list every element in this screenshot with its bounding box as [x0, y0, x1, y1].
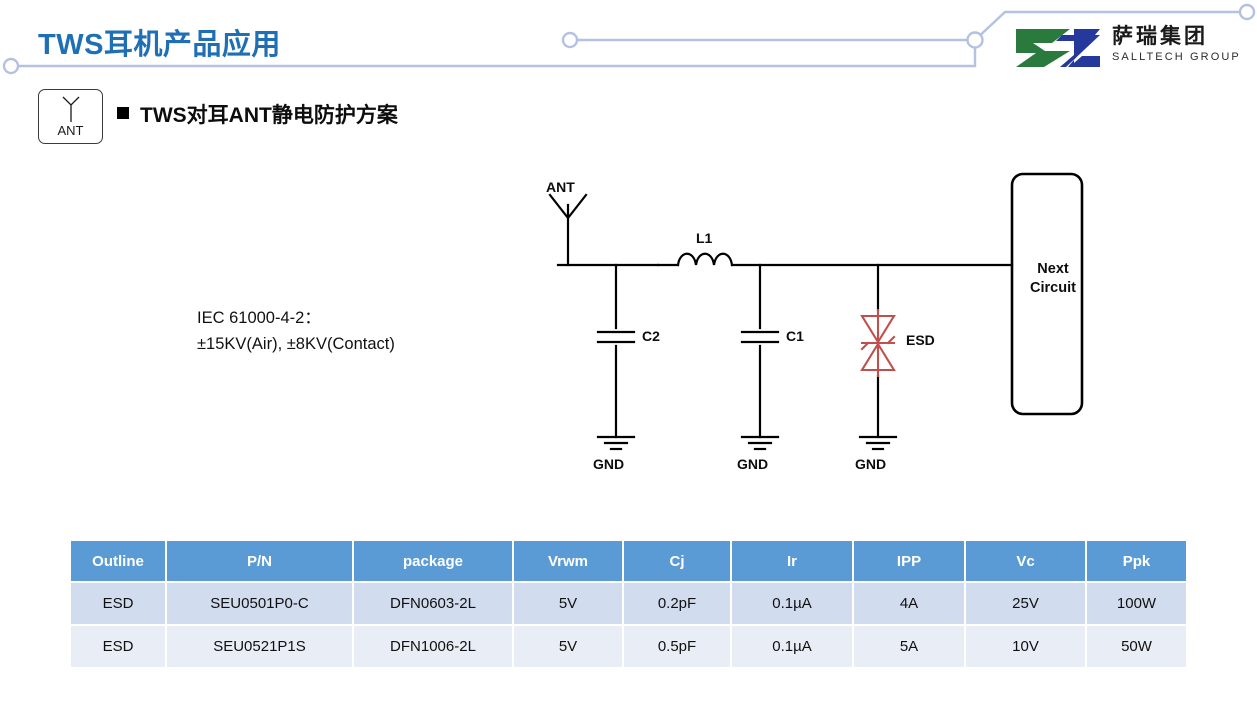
next-circuit-line1: Next	[1008, 260, 1098, 279]
cell-vrwm: 5V	[514, 583, 624, 626]
cell-ppk: 100W	[1087, 583, 1186, 626]
ant-badge: ANT	[38, 89, 103, 144]
cell-package: DFN1006-2L	[354, 626, 514, 669]
antenna-symbol	[550, 195, 586, 265]
deco-node-mid	[563, 33, 577, 47]
slide-root: TWS耳机产品应用 萨瑞集团 SALLTECH GROUP ANT TWS对耳A…	[0, 0, 1257, 704]
column-header-vrwm: Vrwm	[514, 541, 624, 583]
table-header-row: Outline P/N package Vrwm Cj Ir IPP Vc Pp…	[71, 541, 1186, 583]
cell-pn: SEU0521P1S	[167, 626, 354, 669]
iec-note-line2: ±15KV(Air), ±8KV(Contact)	[197, 331, 395, 357]
cell-vc: 25V	[966, 583, 1087, 626]
cell-cj: 0.5pF	[624, 626, 732, 669]
section-heading: TWS对耳ANT静电防护方案	[140, 99, 398, 129]
cell-ipp: 5A	[854, 626, 966, 669]
cell-vrwm: 5V	[514, 626, 624, 669]
column-header-outline: Outline	[71, 541, 167, 583]
iec-standard-note: IEC 61000-4-2： ±15KV(Air), ±8KV(Contact)	[197, 305, 395, 357]
logo-mark-icon	[1012, 26, 1104, 68]
column-header-cj: Cj	[624, 541, 732, 583]
logo-name-cn: 萨瑞集团	[1112, 24, 1244, 50]
company-logo: 萨瑞集团 SALLTECH GROUP	[1012, 24, 1244, 72]
ground-label-3: GND	[855, 456, 886, 472]
deco-node-right	[1240, 5, 1254, 19]
column-header-pn: P/N	[167, 541, 354, 583]
ground-symbol-3	[860, 437, 896, 449]
antenna-label: ANT	[546, 179, 575, 195]
capacitor-c1-label: C1	[786, 328, 804, 344]
next-circuit-line2: Circuit	[1008, 279, 1098, 298]
table-row: ESD SEU0521P1S DFN1006-2L 5V 0.5pF 0.1µA…	[71, 626, 1186, 669]
column-header-ir: Ir	[732, 541, 854, 583]
circuit-diagram: ANT L1 C2 C1 ESD GND GND GND Next Circui…	[510, 160, 1120, 490]
column-header-ppk: Ppk	[1087, 541, 1186, 583]
capacitor-c2-label: C2	[642, 328, 660, 344]
cell-outline: ESD	[71, 626, 167, 669]
column-header-ipp: IPP	[854, 541, 966, 583]
cell-pn: SEU0501P0-C	[167, 583, 354, 626]
capacitor-c1-branch	[742, 265, 778, 437]
inductor-label: L1	[696, 230, 712, 246]
logo-name-en: SALLTECH GROUP	[1112, 50, 1244, 64]
cell-outline: ESD	[71, 583, 167, 626]
ant-badge-label: ANT	[39, 123, 102, 138]
table-row: ESD SEU0501P0-C DFN0603-2L 5V 0.2pF 0.1µ…	[71, 583, 1186, 626]
page-title: TWS耳机产品应用	[38, 21, 281, 63]
cell-ppk: 50W	[1087, 626, 1186, 669]
ground-symbol-1	[598, 437, 634, 449]
column-header-package: package	[354, 541, 514, 583]
ground-symbol-2	[742, 437, 778, 449]
cell-vc: 10V	[966, 626, 1087, 669]
cell-ir: 0.1µA	[732, 583, 854, 626]
cell-ipp: 4A	[854, 583, 966, 626]
spec-table: Outline P/N package Vrwm Cj Ir IPP Vc Pp…	[71, 541, 1186, 669]
esd-label: ESD	[906, 332, 935, 348]
square-bullet-icon	[117, 107, 129, 119]
cell-ir: 0.1µA	[732, 626, 854, 669]
inductor-l1-symbol	[678, 254, 732, 265]
ground-label-2: GND	[737, 456, 768, 472]
cell-package: DFN0603-2L	[354, 583, 514, 626]
cell-cj: 0.2pF	[624, 583, 732, 626]
capacitor-c2-branch	[598, 265, 634, 437]
iec-note-line1: IEC 61000-4-2：	[197, 305, 395, 331]
logo-text-block: 萨瑞集团 SALLTECH GROUP	[1112, 24, 1244, 64]
ground-label-1: GND	[593, 456, 624, 472]
next-circuit-label: Next Circuit	[1008, 260, 1098, 298]
deco-node-left	[4, 59, 18, 73]
esd-tvs-symbol	[862, 310, 894, 376]
column-header-vc: Vc	[966, 541, 1087, 583]
deco-node-corner	[968, 33, 983, 48]
antenna-icon	[58, 95, 84, 123]
